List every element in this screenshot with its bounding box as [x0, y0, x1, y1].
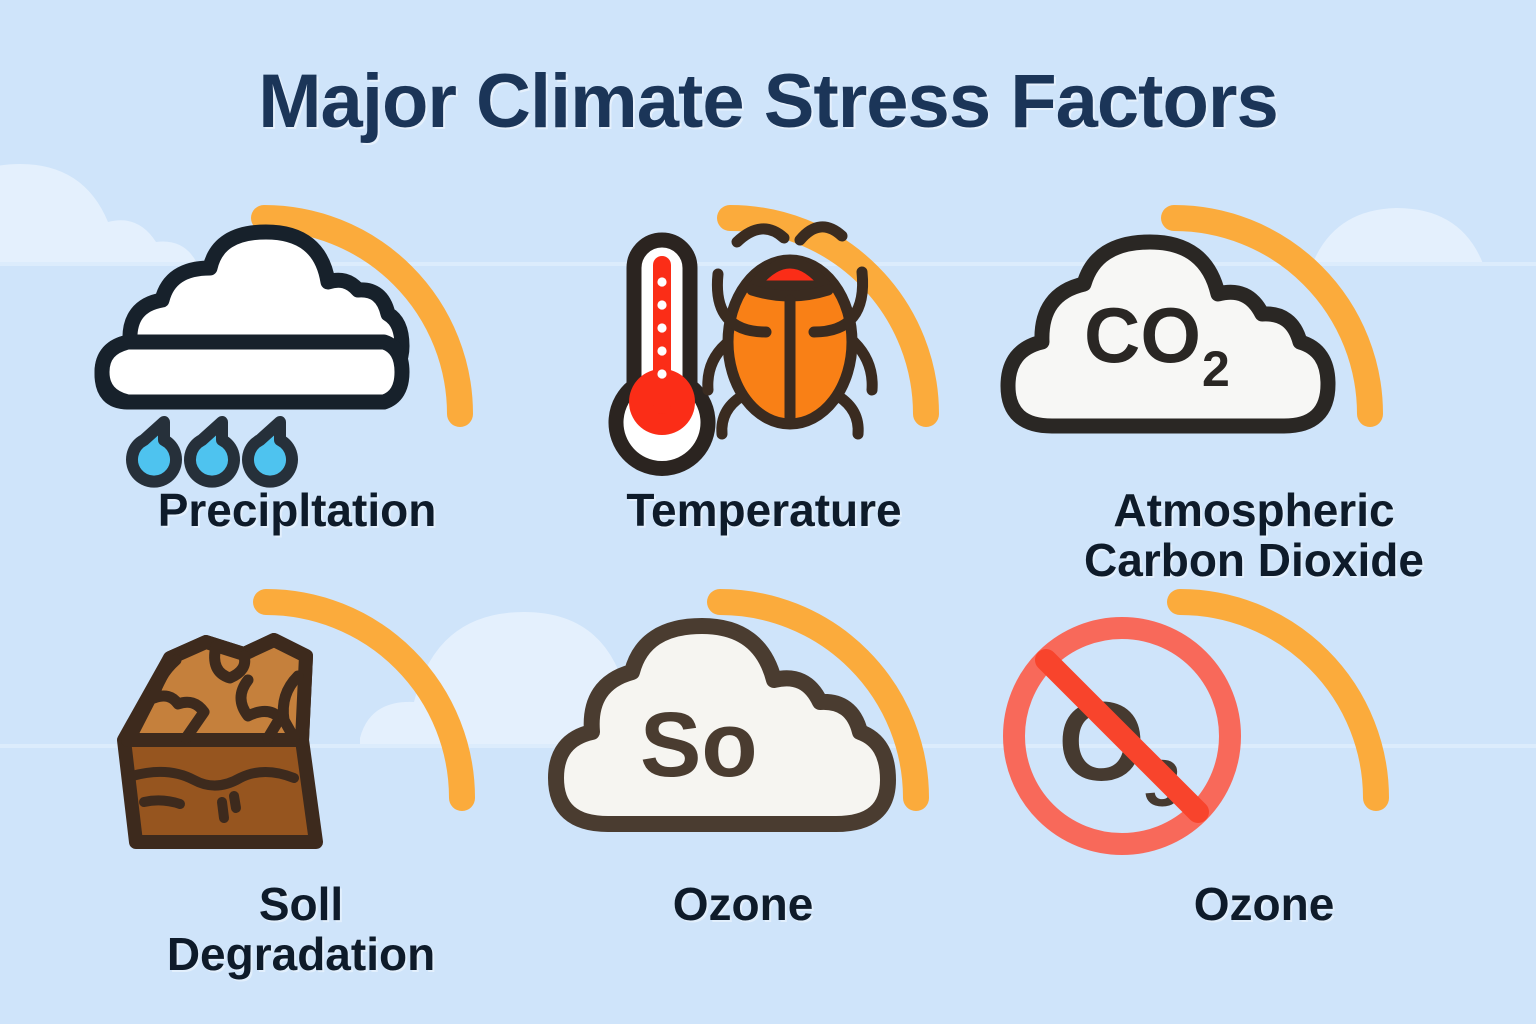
- factor-label-line-2: Degradation: [45, 930, 557, 980]
- cracked-soil-icon: [124, 640, 316, 842]
- ozone-prohibited-artwork: O 3: [966, 580, 1478, 880]
- factor-label-line-2: Carbon Dioxide: [998, 536, 1510, 586]
- factor-card-ozone-cloud[interactable]: So Ozone: [512, 580, 1024, 1000]
- factor-label-precipitation: Precipltation: [41, 486, 553, 536]
- factor-label-atmospheric-carbon-dioxide: Atmospheric Carbon Dioxide: [998, 486, 1510, 585]
- accent-arc-icon: [1180, 602, 1376, 798]
- factor-card-soil-degradation[interactable]: Soll Degradation: [58, 580, 570, 1000]
- raindrop-icon-2: [190, 422, 234, 482]
- factor-card-precipitation[interactable]: Precipltation: [58, 190, 570, 610]
- rain-cloud-icon: [102, 232, 402, 482]
- co2-cloud-icon: CO 2: [1008, 242, 1328, 426]
- page-title: Major Climate Stress Factors: [0, 58, 1536, 145]
- temperature-artwork: [512, 190, 1024, 490]
- so-text: So: [640, 694, 758, 796]
- factor-card-ozone-prohibited[interactable]: O 3 Ozone: [966, 580, 1478, 1000]
- factor-card-atmospheric-carbon-dioxide[interactable]: CO 2 Atmospheric Carbon Dioxide: [966, 190, 1478, 610]
- raindrop-icon-1: [132, 422, 176, 482]
- raindrop-icon-3: [248, 422, 292, 482]
- co2-subscript-text: 2: [1202, 341, 1230, 397]
- co2-main-text: CO: [1084, 291, 1201, 379]
- factor-label-soil-degradation: Soll Degradation: [45, 880, 557, 979]
- soil-degradation-artwork: [58, 580, 570, 880]
- factor-label-line-1: Soll: [45, 880, 557, 930]
- factor-label-temperature: Temperature: [508, 486, 1020, 536]
- factor-label-line-1: Atmospheric: [998, 486, 1510, 536]
- precipitation-artwork: [58, 190, 570, 490]
- factor-label-ozone-prohibited: Ozone: [1008, 880, 1520, 930]
- no-ozone-icon: O 3: [1014, 628, 1230, 844]
- co2-artwork: CO 2: [966, 190, 1478, 490]
- ozone-cloud-artwork: So: [512, 580, 1024, 880]
- factor-label-ozone-cloud: Ozone: [487, 880, 999, 930]
- factor-card-temperature[interactable]: Temperature: [512, 190, 1024, 610]
- thermometer-icon: [616, 240, 708, 468]
- infographic-canvas: Major Climate Stress Factors: [0, 0, 1536, 1024]
